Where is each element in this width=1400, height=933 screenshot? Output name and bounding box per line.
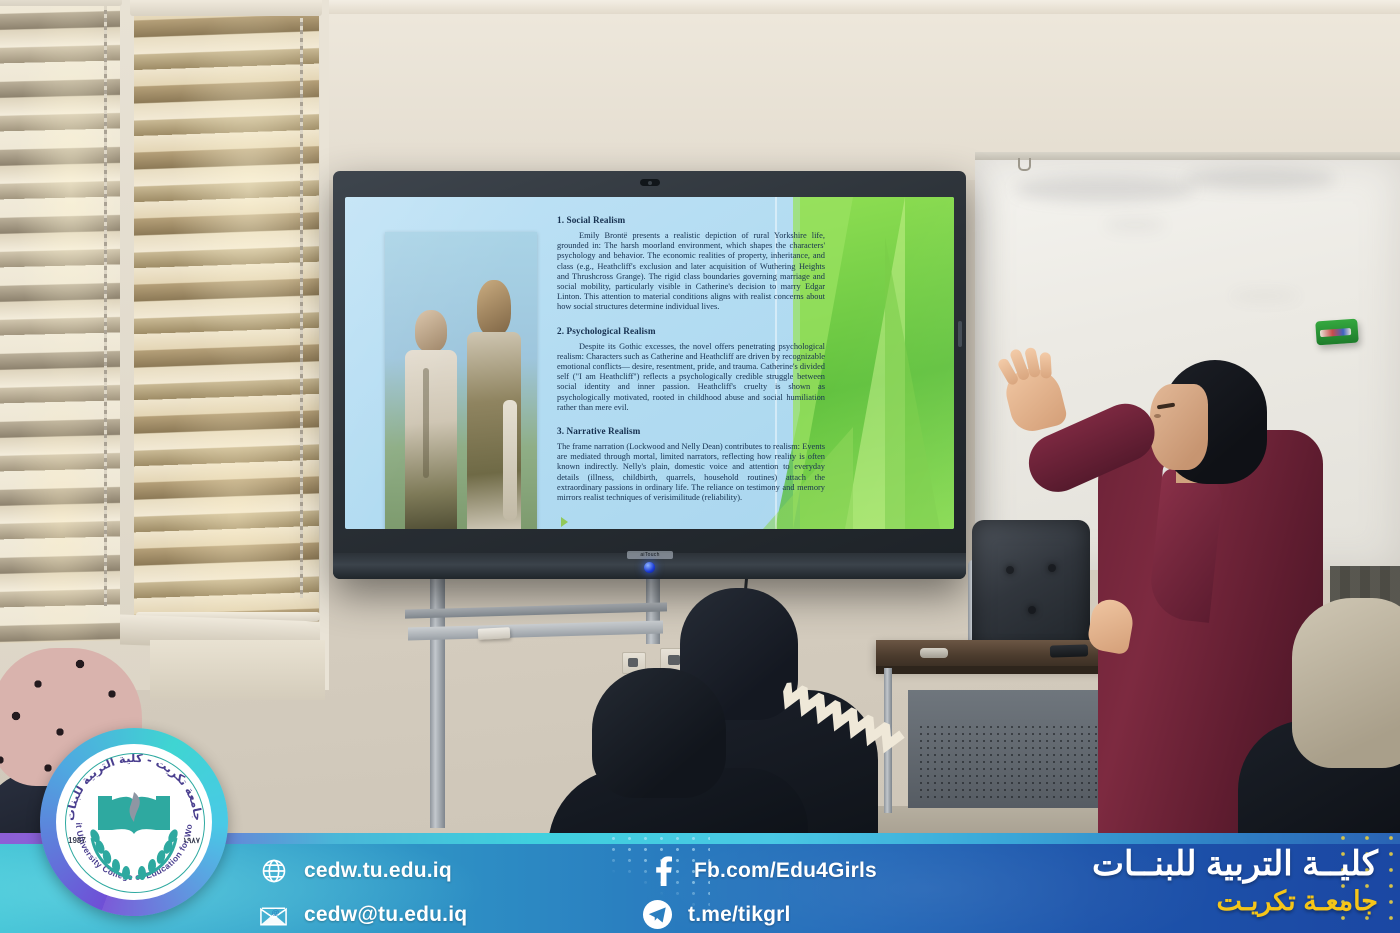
contact-facebook[interactable]: Fb.com/Edu4Girls (648, 855, 877, 886)
display-brand-label: aiTouch (627, 551, 673, 559)
facebook-label: Fb.com/Edu4Girls (694, 859, 877, 883)
display-screen[interactable]: 1. Social Realism Emily Brontë presents … (345, 197, 954, 529)
slide-body-2: Despite its Gothic excesses, the novel o… (557, 342, 825, 413)
ceiling-edge (300, 0, 1400, 14)
blind-cord-left[interactable] (104, 6, 107, 606)
slide-play-cursor-icon (561, 517, 568, 527)
logo-year-arabic: ١٩٨٧ (183, 836, 200, 845)
display-side-button[interactable] (958, 321, 962, 347)
svg-text:@: @ (272, 908, 280, 917)
slide-body-1: Emily Brontë presents a realistic depict… (557, 231, 825, 313)
slide-body-3: The frame narration (Lockwood and Nelly … (557, 442, 825, 503)
facebook-icon (648, 855, 679, 886)
window-sill-lower (150, 640, 325, 700)
contact-email[interactable]: @ cedw@tu.edu.iq (258, 899, 467, 930)
blind-headrail-right (130, 0, 322, 16)
photo-scene: 1. Social Realism Emily Brontë presents … (0, 0, 1400, 933)
slide-text-column: 1. Social Realism Emily Brontë presents … (557, 215, 825, 516)
office-chair[interactable] (972, 520, 1090, 660)
laurel-wreath-icon (82, 820, 186, 882)
contact-telegram[interactable]: t.me/tikgrl (642, 899, 791, 930)
email-label: cedw@tu.edu.iq (304, 903, 467, 927)
window-blind-right (134, 4, 319, 622)
telegram-label: t.me/tikgrl (688, 903, 791, 927)
email-icon: @ (258, 899, 289, 930)
presentation-slide: 1. Social Realism Emily Brontë presents … (345, 197, 954, 529)
desk-edge (876, 666, 1116, 674)
desk-small-object[interactable] (920, 648, 948, 658)
lecturer-face (1150, 384, 1208, 470)
slide-film-still (385, 232, 537, 529)
slide-heading-1: 1. Social Realism (557, 215, 825, 225)
blind-cord-right[interactable] (300, 18, 303, 598)
contact-website[interactable]: cedw.tu.edu.iq (258, 855, 452, 886)
slide-heading-3: 3. Narrative Realism (557, 426, 825, 436)
slide-shape-5 (885, 237, 940, 529)
university-name-arabic: جامعـة تكريـت (1092, 888, 1378, 915)
display-camera-icon (640, 179, 660, 186)
desk-perforation-texture (918, 724, 1100, 802)
university-logo: جامعة تكريت - كلية التربية للبنات Tikrit… (40, 728, 228, 916)
website-label: cedw.tu.edu.iq (304, 859, 452, 883)
window-blind-left (0, 0, 120, 644)
film-figure-right (463, 280, 523, 529)
film-figure-left (403, 310, 459, 529)
interactive-display[interactable]: 1. Social Realism Emily Brontë presents … (333, 171, 966, 579)
logo-year-latin: 1987 (68, 836, 86, 845)
desk-remote-control[interactable] (1050, 644, 1088, 657)
faculty-name-arabic: كليــة التربية للبنــات (1092, 847, 1378, 881)
tv-remote-on-shelf[interactable] (478, 627, 511, 640)
display-power-led[interactable] (644, 562, 655, 573)
whiteboard-marker[interactable] (1315, 319, 1359, 346)
slide-heading-2: 2. Psychological Realism (557, 326, 825, 336)
whiteboard-hook (1018, 158, 1031, 171)
faculty-name-block: كليــة التربية للبنــات جامعـة تكريـت (1092, 847, 1378, 915)
telegram-icon (642, 899, 673, 930)
globe-icon (258, 855, 289, 886)
